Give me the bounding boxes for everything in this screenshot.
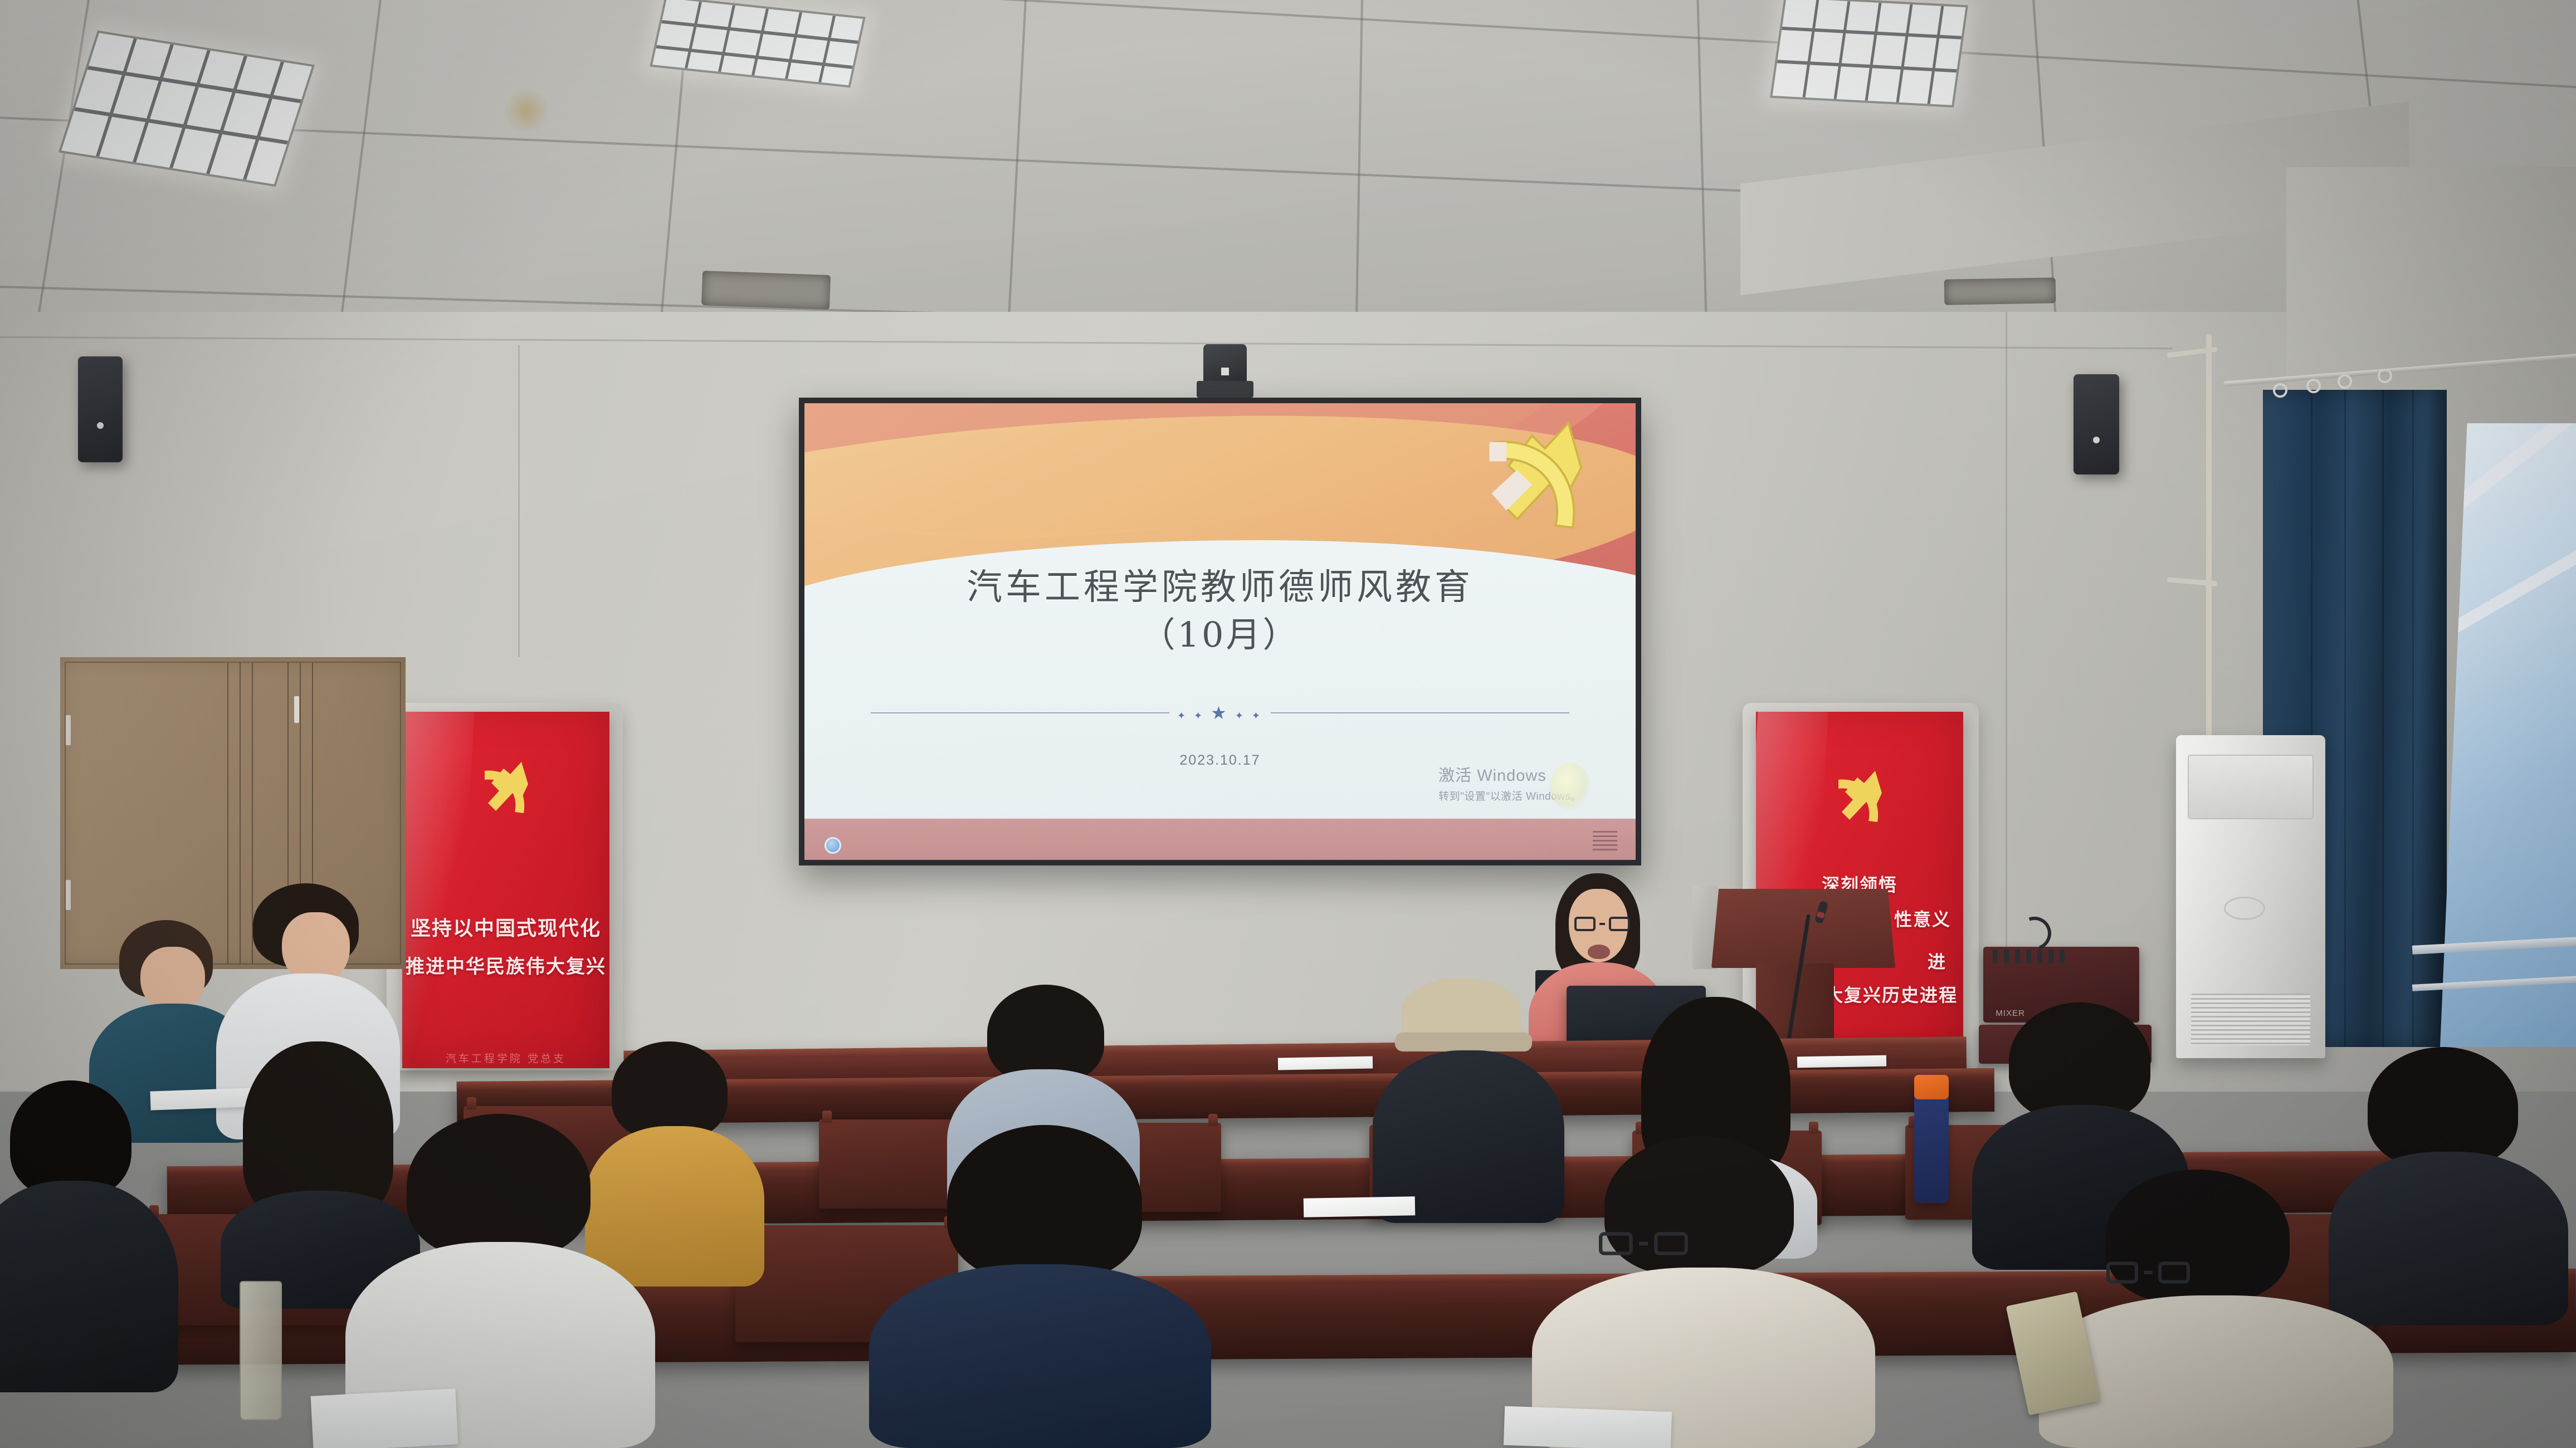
attendee-back-view — [0, 1080, 178, 1392]
banner-left-line2: 推进中华民族伟大复兴 — [402, 951, 609, 979]
ac-dial[interactable] — [2224, 897, 2265, 920]
attendee-foreground — [2039, 1170, 2396, 1448]
wall-seam — [518, 345, 520, 657]
door-hinge — [66, 715, 71, 745]
attendee-hair — [10, 1080, 131, 1197]
banner-left-footer: 汽车工程学院 党总支 — [402, 1050, 609, 1065]
glasses-icon — [1574, 917, 1630, 931]
ceiling-damaged-tile — [1944, 277, 2056, 305]
curtain-ring — [2306, 379, 2321, 393]
curtain-ring — [2338, 374, 2352, 389]
banner-left: 坚持以中国式现代化 推进中华民族伟大复兴 汽车工程学院 党总支 — [402, 712, 609, 1068]
wall-speaker-left — [78, 356, 123, 462]
star-decoration: ✦ ✦ ★ ✦ ✦ — [1169, 704, 1271, 722]
ceiling-light-fixture — [1770, 0, 1968, 107]
slide-content: 汽车工程学院教师德师风教育 （10月） ✦ ✦ ★ ✦ ✦ 2023.10.17… — [804, 403, 1636, 860]
glass-tumbler[interactable] — [240, 1281, 282, 1420]
document-on-table[interactable] — [1278, 1056, 1373, 1070]
slide-title-line2: （10月） — [804, 606, 1636, 657]
projector-mount — [1203, 344, 1247, 383]
bottle-cap — [1914, 1075, 1949, 1099]
ac-vent — [2188, 755, 2313, 819]
browser-icon[interactable] — [824, 837, 841, 854]
ac-brand-label — [2215, 877, 2218, 888]
curtain-ring — [2378, 369, 2392, 383]
attendee-hair — [947, 1125, 1142, 1281]
glasses-icon — [1599, 1232, 1688, 1255]
wall-seam — [2006, 312, 2007, 980]
attendee-hair — [2009, 1002, 2150, 1121]
screen-glare — [1550, 763, 1590, 810]
attendee-torso — [869, 1264, 1211, 1448]
attendee-hair — [2368, 1047, 2518, 1167]
attendee-hair — [987, 985, 1104, 1083]
attendee-foreground-glasses — [1532, 1136, 1877, 1448]
screen-corner-artifact — [1593, 831, 1617, 853]
document-on-desk[interactable] — [1304, 1196, 1416, 1217]
attendee-face — [140, 947, 205, 1012]
floor-standing-air-conditioner — [2176, 735, 2325, 1058]
mixer-knobs[interactable] — [1993, 949, 2065, 963]
document-on-desk[interactable] — [1504, 1406, 1672, 1448]
attendee-torso — [0, 1181, 178, 1392]
slide-title-line1: 汽车工程学院教师德师风教育 — [804, 559, 1636, 610]
attendee-foreground — [869, 1125, 1214, 1448]
hammer-and-sickle-icon — [472, 757, 539, 819]
slide-star-divider: ✦ ✦ ★ ✦ ✦ — [871, 705, 1569, 721]
presenter-mouth — [1588, 945, 1610, 959]
slide-footer-band — [804, 819, 1636, 860]
projection-screen-frame: 汽车工程学院教师德师风教育 （10月） ✦ ✦ ★ ✦ ✦ 2023.10.17… — [799, 398, 1641, 865]
curtain-ring — [2273, 383, 2287, 398]
conference-room-photo: 汽车工程学院教师德师风教育 （10月） ✦ ✦ ★ ✦ ✦ 2023.10.17… — [0, 0, 2576, 1448]
document-on-desk[interactable] — [311, 1388, 458, 1448]
ceiling-stain — [501, 89, 552, 133]
projection-screen: 汽车工程学院教师德师风教育 （10月） ✦ ✦ ★ ✦ ✦ 2023.10.17… — [804, 403, 1636, 860]
banner-left-line1: 坚持以中国式现代化 — [402, 912, 609, 941]
glasses-icon — [2106, 1262, 2190, 1284]
wall-conduit — [2206, 334, 2212, 757]
door-latch[interactable] — [294, 696, 299, 723]
cap-brim — [1395, 1033, 1532, 1051]
hammer-and-sickle-icon — [1826, 766, 1893, 828]
ceiling-damaged-tile — [701, 271, 831, 310]
attendee-hair — [407, 1114, 591, 1259]
ac-grille — [2191, 994, 2310, 1045]
door-hinge — [66, 880, 71, 910]
wall-speaker-right — [2074, 374, 2119, 474]
